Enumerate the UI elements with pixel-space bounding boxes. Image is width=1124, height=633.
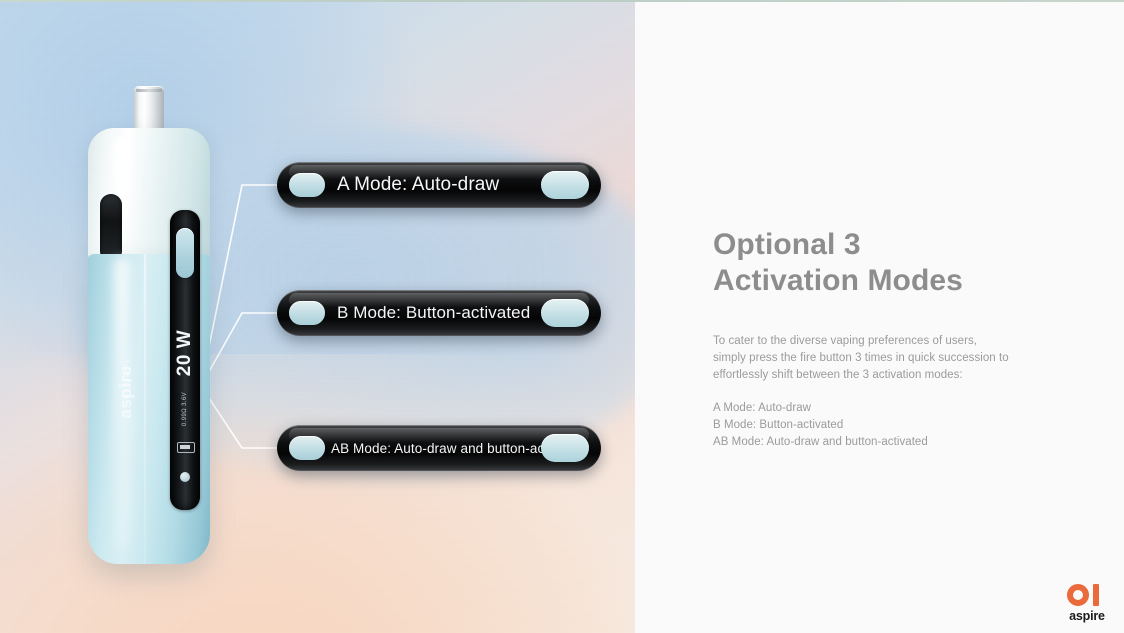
pill-right-cap-icon (541, 171, 589, 199)
battery-icon (177, 442, 195, 453)
headline-line-1: Optional 3 (713, 227, 1073, 263)
top-hairline (0, 0, 1124, 2)
product-feature-slide: aspire FLUFFI 20 W 0.99Ω 3.6V A Mode: Au… (0, 0, 1124, 633)
mouthpiece-icon (134, 86, 164, 134)
screen-mini-readout: 0.99Ω 3.6V (182, 372, 188, 446)
callout-pill-a-mode[interactable]: A Mode: Auto-draw (277, 162, 601, 208)
callout-label-a-mode: A Mode: Auto-draw (337, 174, 499, 196)
device-screen: 20 W 0.99Ω 3.6V (170, 210, 200, 510)
logo-ring-icon (1067, 584, 1089, 606)
aspire-logo: aspire (1062, 584, 1112, 626)
pill-left-cap-icon (289, 301, 325, 325)
aspire-mark-icon (1065, 584, 1109, 606)
logo-wordmark: aspire (1062, 609, 1112, 623)
pill-right-cap-icon (541, 434, 589, 462)
product-image-panel: aspire FLUFFI 20 W 0.99Ω 3.6V A Mode: Au… (0, 0, 635, 633)
device-body-seam (144, 254, 146, 564)
pill-right-cap-icon (541, 299, 589, 327)
fire-button[interactable] (176, 228, 194, 278)
callout-pill-b-mode[interactable]: B Mode: Button-activated (277, 290, 601, 336)
description-panel: Optional 3 Activation Modes To cater to … (635, 0, 1124, 633)
page-title: Optional 3 Activation Modes (713, 227, 1073, 299)
mode-list-item: AB Mode: Auto-draw and button-activated (713, 434, 1033, 451)
screen-indicator-dot (180, 472, 190, 482)
description-paragraph: To cater to the diverse vaping preferenc… (713, 333, 1013, 384)
logo-bar-icon (1093, 584, 1099, 606)
vape-device: aspire FLUFFI 20 W 0.99Ω 3.6V (86, 86, 226, 566)
mode-list-item: A Mode: Auto-draw (713, 400, 1033, 417)
pill-left-cap-icon (289, 173, 325, 197)
pill-left-cap-icon (289, 436, 325, 460)
mode-list: A Mode: Auto-draw B Mode: Button-activat… (713, 400, 1033, 450)
mode-list-item: B Mode: Button-activated (713, 417, 1033, 434)
air-intake-window (100, 194, 122, 262)
headline-line-2: Activation Modes (713, 263, 1073, 299)
callout-pill-ab-mode[interactable]: AB Mode: Auto-draw and button-activated (277, 425, 601, 471)
device-model-text: FLUFFI (122, 334, 132, 424)
callout-label-b-mode: B Mode: Button-activated (337, 303, 530, 323)
